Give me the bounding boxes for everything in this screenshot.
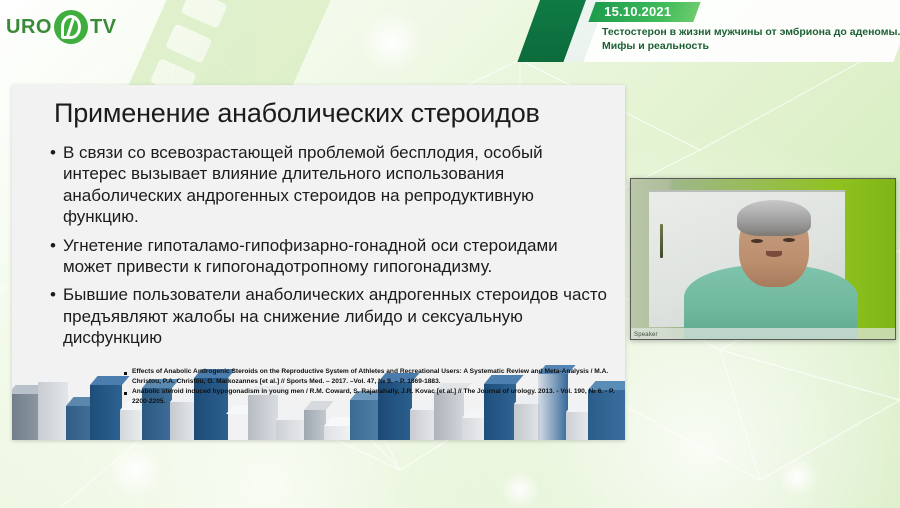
skyline-block [226, 414, 250, 440]
slide-bullet-item: • Бывшие пользователи анаболических андр… [50, 284, 610, 348]
broadcast-title-line2: Мифы и реальность [602, 39, 900, 53]
skyline-block [90, 385, 122, 440]
bullet-glyph: • [50, 142, 56, 163]
reference-bullet-icon [124, 372, 127, 375]
logo-text-tv: TV [90, 16, 117, 39]
slide-bullet-item: • В связи со всевозрастающей проблемой б… [50, 142, 610, 228]
background-glow [110, 440, 160, 502]
broadcast-title-line1: Тестостерон в жизни мужчины от эмбриона … [602, 25, 900, 39]
uro-leaf-circle-icon [54, 10, 88, 44]
reference-list: Effects of Anabolic Androgenic Steroids … [124, 367, 620, 407]
skyline-block [66, 406, 92, 440]
reference-text: Effects of Anabolic Androgenic Steroids … [132, 367, 620, 386]
video-speaker-label: Speaker [634, 332, 658, 338]
urotv-logo[interactable]: URO TV [6, 10, 117, 44]
skyline-block [38, 382, 68, 440]
skyline-block [324, 426, 350, 440]
slide-title: Применение анаболических стероидов [54, 98, 540, 129]
background-glow [500, 470, 540, 508]
skyline-block [120, 410, 144, 440]
reference-bullet-icon [124, 392, 127, 395]
speaker-eye-right [783, 238, 795, 242]
broadcast-title: Тестостерон в жизни мужчины от эмбриона … [602, 25, 900, 53]
video-pen-object [660, 224, 663, 258]
bullet-glyph: • [50, 284, 56, 305]
skyline-block [276, 420, 304, 440]
skyline-block [566, 412, 590, 440]
skyline-block [410, 410, 436, 440]
speaker-mouth [766, 251, 782, 257]
bullet-text: В связи со всевозрастающей проблемой бес… [63, 142, 610, 228]
logo-text-uro: URO [6, 16, 52, 39]
background-glow [360, 10, 424, 74]
reference-item: Anabolic steroid induced hypogonadism in… [124, 387, 620, 406]
video-status-bar [631, 328, 895, 339]
slide-panel: Применение анаболических стероидов • В с… [12, 85, 625, 440]
speaker-eye-left [751, 239, 763, 243]
skyline-block [462, 418, 486, 440]
skyline-block [170, 402, 196, 440]
background-glow [780, 455, 816, 499]
broadcast-date-badge: 15.10.2021 [588, 2, 700, 22]
slide-bullet-item: • Угнетение гипоталамо-гипофизарно-гонад… [50, 235, 610, 278]
speaker-video-feed[interactable]: Speaker [630, 178, 896, 340]
skyline-block [514, 404, 540, 440]
slide-bullet-list: • В связи со всевозрастающей проблемой б… [50, 142, 610, 356]
reference-item: Effects of Anabolic Androgenic Steroids … [124, 367, 620, 386]
broadcast-date: 15.10.2021 [604, 4, 671, 19]
broadcast-title-banner: 15.10.2021 Тестостерон в жизни мужчины о… [540, 0, 900, 62]
bullet-text: Угнетение гипоталамо-гипофизарно-гонадно… [63, 235, 610, 278]
bullet-glyph: • [50, 235, 56, 256]
speaker-hair [737, 200, 811, 236]
reference-text: Anabolic steroid induced hypogonadism in… [132, 387, 620, 406]
bullet-text: Бывшие пользователи анаболических андрог… [63, 284, 610, 348]
skyline-block [304, 410, 326, 440]
presentation-stream-view: URO TV 15.10.2021 Тестостерон в жизни му… [0, 0, 900, 508]
